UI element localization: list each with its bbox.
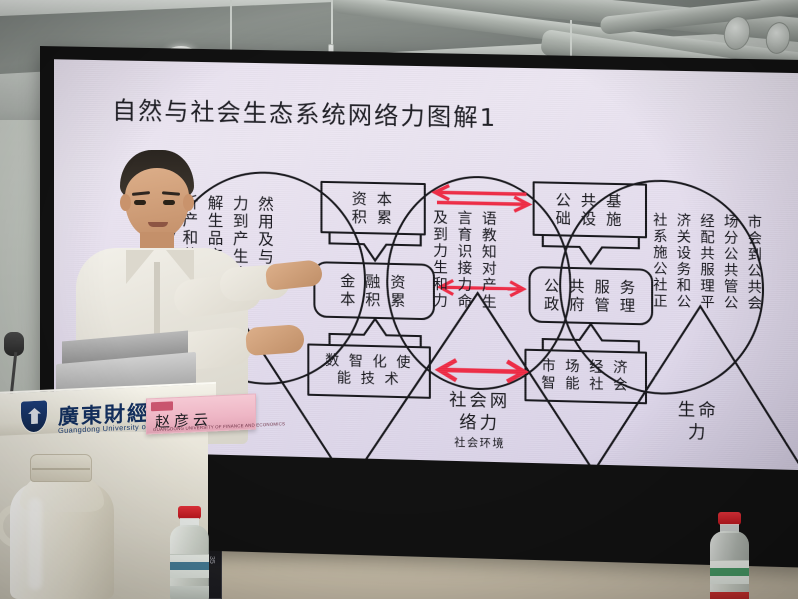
triangle-center-label: 社会网 络力 社会环境 (423, 389, 537, 453)
bottle-label-stripe (170, 562, 209, 570)
box-financial-capital: 金 融 资 本 积 累 (313, 261, 435, 320)
presenter-eye (163, 200, 175, 205)
box-capital-accumulation: 资 本 积 累 (320, 181, 425, 236)
box-finance-line1: 金 融 资 (340, 272, 408, 292)
presenter-hand (245, 324, 305, 356)
mid-col-3: 及到力生和力 (429, 209, 450, 309)
thermos-highlight (28, 498, 42, 590)
right-col-2: 场分公共管公 (720, 214, 741, 312)
mid-col-2: 言育识接力命 (453, 210, 474, 310)
box-capital-line1: 资 本 (352, 189, 395, 208)
slide-title: 自然与社会生态系统网络力图解1 (112, 90, 497, 133)
box-public-service-government: 公 共 服 务 政 府 管 理 (529, 266, 654, 325)
pipe-hanger (230, 0, 232, 52)
bottle-label (170, 554, 209, 578)
presenter-eye (134, 200, 146, 205)
box-gov-line2: 政 府 管 理 (544, 295, 638, 316)
speaker-nameplate: 赵彦云 GUANGDONG UNIVERSITY OF FINANCE AND … (146, 394, 256, 435)
right-col-3: 经配共服理平 (696, 213, 717, 311)
triangle-right-line2: 力 (688, 423, 709, 444)
box-market-economy: 市 场 经 济 智 能 社 会 (524, 349, 647, 405)
mid-col-1: 语教知对产生 (478, 210, 499, 310)
box-public-infrastructure: 公 共 基 础 设 施 (533, 181, 647, 238)
bottle-label (710, 560, 749, 584)
thermos-lid-seam (32, 468, 90, 470)
presenter-ear (120, 194, 131, 211)
presenter-ear (183, 194, 194, 211)
presenter-collar (126, 250, 154, 284)
triangle-center-sub: 社会环境 (423, 435, 537, 452)
triangle-center-line1: 社会网 (449, 390, 510, 412)
box-tech-line1: 数 智 化 使 (325, 353, 413, 372)
box-finance-line2: 本 积 累 (340, 290, 408, 310)
box-gov-line1: 公 共 服 务 (544, 276, 638, 297)
triangle-center-line2: 络力 (459, 413, 500, 434)
arrow-tech-market (429, 356, 535, 385)
lecture-hall-photo: 經大學 35 自然与社会生态系统网络力图解1 (0, 0, 798, 599)
right-col-5: 社系施公社正 (649, 212, 669, 310)
box-digital-tech: 数 智 化 使 能 技 术 (307, 343, 431, 398)
box-capital-line2: 积 累 (352, 208, 395, 227)
triangle-right-line1: 生命 (678, 400, 719, 421)
circle-mid-text-columns: 语教知对产生 言育识接力命 及到力生和力 (429, 209, 499, 310)
box-market-line2: 智 能 社 会 (541, 375, 630, 394)
water-bottle-right (706, 512, 752, 599)
water-bottle-left (166, 506, 212, 599)
thermos-flask (10, 452, 114, 599)
box-tech-line2: 能 技 术 (337, 370, 401, 389)
box-infra-line2: 础 设 施 (556, 209, 624, 229)
box-market-line1: 市 场 经 济 (541, 358, 630, 377)
right-col-4: 济关设务和公 (673, 213, 694, 311)
triangle-right-label: 生命 力 (649, 398, 747, 445)
bottle-base (710, 592, 749, 599)
bottle-label-stripe (710, 568, 749, 576)
bottle-base (170, 586, 209, 599)
box-infra-line1: 公 共 基 (556, 191, 624, 211)
presenter-mouth (148, 222, 168, 227)
caption-highlight-1: 相对独立起源 (245, 468, 339, 470)
circle-right-text-columns: 市会到公共会 场分公共管公 经配共服理平 济关设务和公 社系施公社正 (649, 212, 764, 312)
right-col-1: 市会到公共会 (743, 214, 764, 312)
